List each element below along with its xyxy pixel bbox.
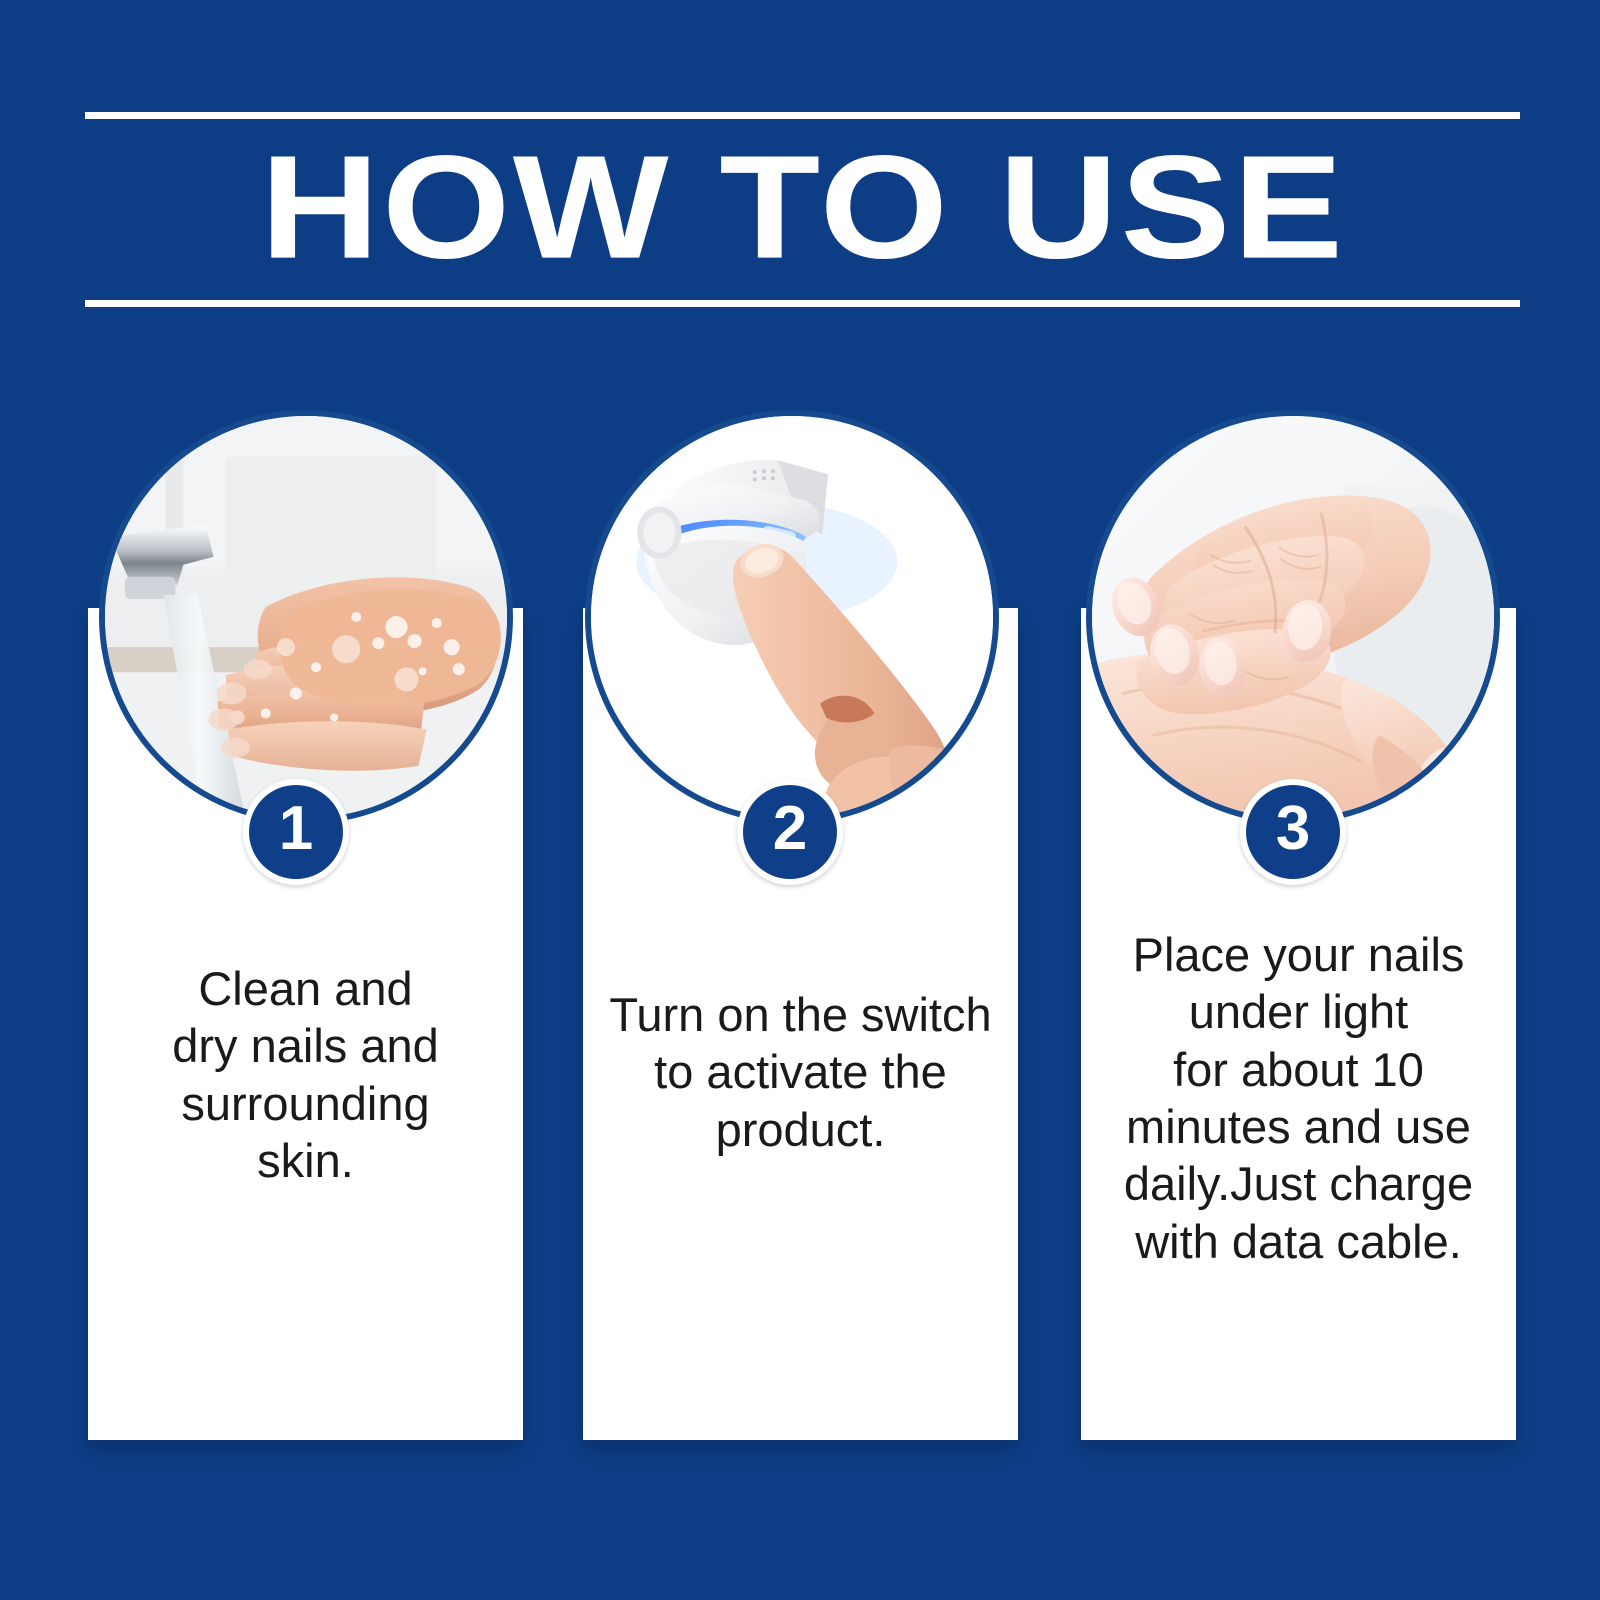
steps-container: Clean and dry nails and surrounding skin… xyxy=(0,0,1600,1600)
step-image-1 xyxy=(99,410,513,824)
manicured-hands-photo xyxy=(1092,416,1494,818)
step-number-badge-3: 3 xyxy=(1240,779,1346,885)
step-number-2: 2 xyxy=(773,798,807,860)
step-image-2 xyxy=(585,410,999,824)
step-image-3 xyxy=(1086,410,1500,824)
step-number-3: 3 xyxy=(1276,798,1310,860)
step-caption-3: Place your nails under light for about 1… xyxy=(1095,926,1502,1270)
step-caption-2: Turn on the switch to activate the produ… xyxy=(597,986,1004,1158)
step-number-badge-1: 1 xyxy=(243,779,349,885)
washing-hands-with-soap-under-faucet-photo xyxy=(105,416,507,818)
step-number-badge-2: 2 xyxy=(737,779,843,885)
finger-pressing-uv-lamp-switch-photo xyxy=(591,416,993,818)
step-caption-1: Clean and dry nails and surrounding skin… xyxy=(102,960,509,1189)
step-number-1: 1 xyxy=(279,798,313,860)
